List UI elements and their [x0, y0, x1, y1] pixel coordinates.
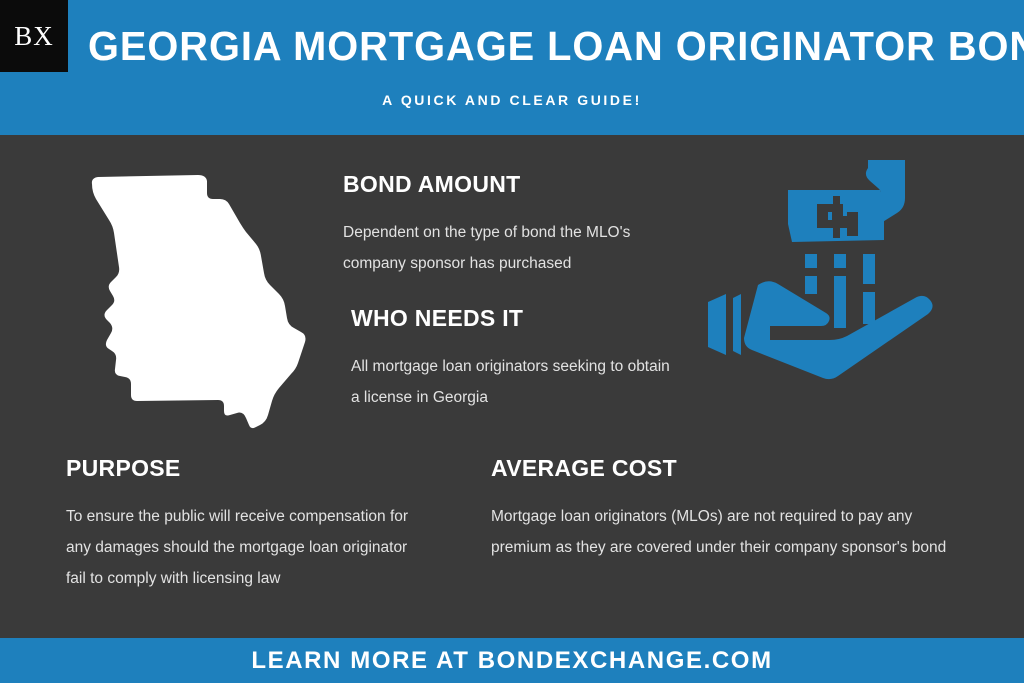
section-heading-average-cost: AVERAGE COST	[491, 455, 951, 481]
hand-giving-money-icon	[700, 150, 940, 385]
footer-banner[interactable]: LEARN MORE AT BONDEXCHANGE.COM	[0, 638, 1024, 683]
section-body-bond-amount: Dependent on the type of bond the MLO's …	[343, 217, 673, 279]
main-content: BOND AMOUNT Dependent on the type of bon…	[0, 135, 1024, 638]
infographic-root: BX GEORGIA MORTGAGE LOAN ORIGINATOR BOND…	[0, 0, 1024, 683]
header-banner: BX GEORGIA MORTGAGE LOAN ORIGINATOR BOND…	[0, 0, 1024, 135]
section-body-average-cost: Mortgage loan originators (MLOs) are not…	[491, 501, 951, 563]
page-title: GEORGIA MORTGAGE LOAN ORIGINATOR BOND	[88, 22, 971, 70]
section-body-purpose: To ensure the public will receive compen…	[66, 501, 416, 594]
section-heading-bond-amount: BOND AMOUNT	[343, 171, 673, 197]
section-who-needs-it: WHO NEEDS IT All mortgage loan originato…	[351, 305, 681, 413]
section-body-who-needs-it: All mortgage loan originators seeking to…	[351, 351, 681, 413]
section-average-cost: AVERAGE COST Mortgage loan originators (…	[491, 455, 951, 563]
georgia-state-map-icon	[80, 170, 315, 435]
section-bond-amount: BOND AMOUNT Dependent on the type of bon…	[343, 171, 673, 279]
footer-call-to-action: LEARN MORE AT BONDEXCHANGE.COM	[251, 647, 772, 675]
section-heading-purpose: PURPOSE	[66, 455, 416, 481]
brand-logo-text: BX	[14, 23, 54, 50]
page-subtitle: A QUICK AND CLEAR GUIDE!	[0, 92, 1024, 108]
section-heading-who-needs-it: WHO NEEDS IT	[351, 305, 681, 331]
brand-logo[interactable]: BX	[0, 0, 68, 72]
section-purpose: PURPOSE To ensure the public will receiv…	[66, 455, 416, 594]
